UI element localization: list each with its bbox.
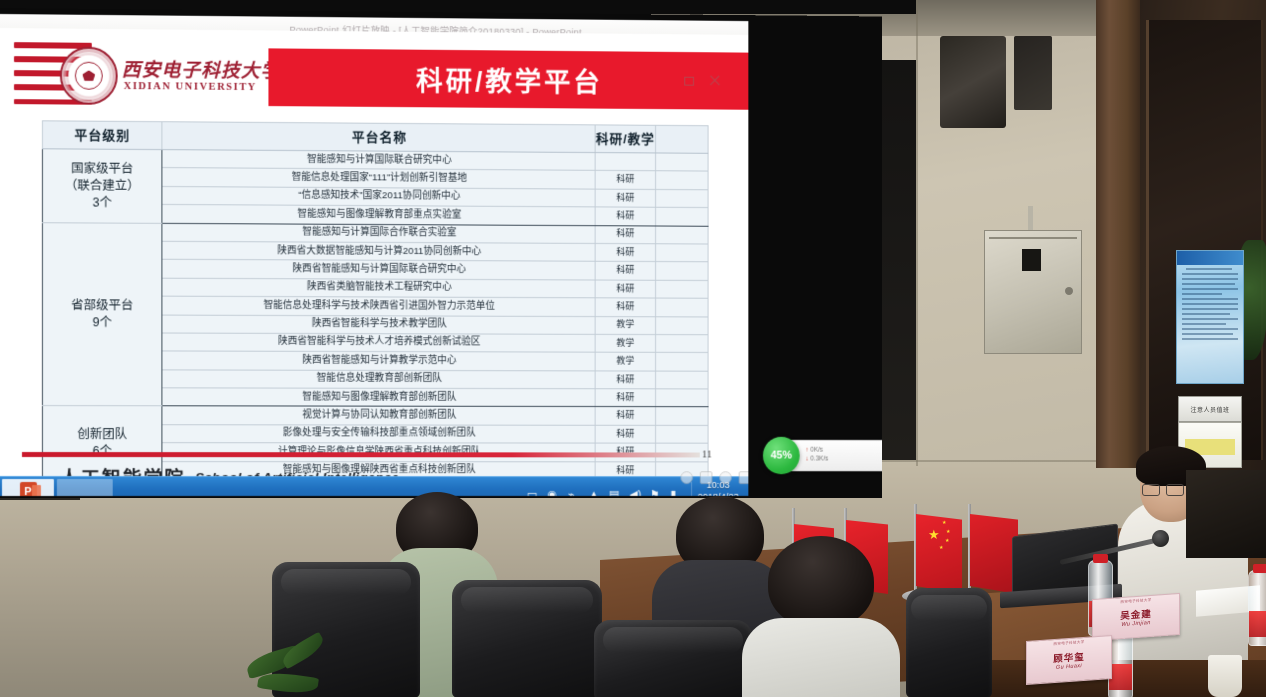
notes-icon[interactable]: ▤ <box>609 485 624 496</box>
platform-type-cell: 科研 <box>595 425 655 443</box>
group-label-line: （联合建立） <box>43 177 161 195</box>
table-spacer-cell <box>656 389 709 407</box>
powerpoint-window: PowerPoint 幻灯片放映 - [人工智能学院简介20180330] - … <box>0 14 748 496</box>
table-spacer-cell <box>656 407 709 425</box>
table-spacer-cell <box>656 207 709 225</box>
table-group-label: 省部级平台9个 <box>42 222 161 406</box>
table-header-cell: 平台名称 <box>162 122 595 153</box>
platform-name-cell: 陕西省智能科学与技术教学团队 <box>162 315 595 335</box>
next-slide-icon[interactable] <box>719 471 732 484</box>
platform-type-cell: 教学 <box>595 352 655 370</box>
platform-name-cell: 智能信息处理科学与技术陕西省引进国外智力示范单位 <box>162 296 595 316</box>
table-spacer-cell <box>656 353 709 371</box>
download-arrow-icon: ↓ <box>806 456 809 463</box>
table-spacer-cell <box>656 425 709 443</box>
platform-type-cell: 科研 <box>595 280 655 298</box>
platform-name-cell: 视觉计算与协同认知教育部创新团队 <box>162 406 595 425</box>
platform-name-cell: 智能信息处理教育部创新团队 <box>162 370 595 389</box>
platform-type-cell: 科研 <box>595 171 655 190</box>
attendee-shirt <box>742 618 900 697</box>
slide-title-banner: 科研/教学平台 <box>268 48 748 109</box>
cabinet-handle-icon <box>1065 287 1073 295</box>
conference-room-scene: 注意人员值班 PowerPoint 幻灯片放映 - [人工智能学院简介20180… <box>0 0 1266 697</box>
platform-type-cell: 科研 <box>595 298 655 316</box>
platform-name-cell: 陕西省智能感知与计算教学示范中心 <box>162 351 595 370</box>
taskbar-powerpoint-button[interactable]: P <box>2 479 54 496</box>
footer-rule <box>22 452 700 457</box>
network-icon[interactable]: ⌁ <box>568 485 583 496</box>
chair <box>594 620 752 697</box>
windows-taskbar[interactable]: P ▭ ◉ ⌁ ▲ ▤ ◀) ⚑ ▮ 10:03 2018/4/2 <box>0 476 748 496</box>
window-controls[interactable] <box>682 74 721 87</box>
table-spacer-cell <box>656 316 709 334</box>
table-spacer-cell <box>656 171 709 189</box>
platform-type-cell: 教学 <box>595 334 655 352</box>
group-label-line: 省部级平台 <box>43 297 161 314</box>
wall-seam-vertical <box>916 0 918 466</box>
platform-name-cell: 智能感知与图像理解教育部重点实验室 <box>162 205 595 226</box>
platform-type-cell: 科研 <box>595 262 655 280</box>
upload-arrow-icon: ↑ <box>806 447 809 454</box>
slide-number: 11 <box>702 449 712 461</box>
show-hidden-icons-icon[interactable]: ▲ <box>589 485 604 496</box>
wall-sign: 注意人员值班 <box>1178 396 1242 422</box>
upload-rate: 0K/s <box>810 447 823 454</box>
wall-notice-poster <box>1176 250 1244 384</box>
platform-table: 平台级别平台名称科研/教学国家级平台（联合建立）3个智能感知与计算国际联合研究中… <box>42 120 709 480</box>
table-row: 创新团队6个视觉计算与协同认知教育部创新团队科研 <box>42 406 708 425</box>
platform-type-cell: 科研 <box>595 225 655 243</box>
close-icon[interactable] <box>709 74 722 87</box>
table-spacer-cell <box>656 371 709 389</box>
university-name-cn: 西安电子科技大学 <box>122 55 281 83</box>
taskbar-buttons[interactable]: P <box>0 479 113 496</box>
network-speed-widget[interactable]: 45% ↑ 0K/s ↓ 0.3K/s ✦ <box>776 440 882 472</box>
table-header-cell <box>656 125 709 153</box>
water-bottle <box>1248 570 1266 646</box>
help-icon[interactable]: ◉ <box>547 485 562 496</box>
ceiling-speaker-left <box>940 36 1006 128</box>
platform-type-cell: 科研 <box>595 189 655 208</box>
signal-icon[interactable]: ▮ <box>670 485 685 496</box>
chair <box>906 588 992 697</box>
table-spacer-cell <box>656 298 709 316</box>
paper-cup <box>1208 655 1242 697</box>
university-logo-icon <box>60 47 118 105</box>
table-header-row: 平台级别平台名称科研/教学 <box>42 121 708 154</box>
slideshow-controls[interactable] <box>680 470 748 484</box>
table-spacer-cell <box>656 189 709 207</box>
network-rates: ↑ 0K/s ↓ 0.3K/s <box>806 447 829 464</box>
cabinet-top-line <box>989 237 1077 239</box>
placard-name-en: Wu Jinjian <box>1121 620 1150 628</box>
powerpoint-icon[interactable]: P <box>19 482 36 496</box>
ceiling-speaker-right <box>1014 36 1052 110</box>
slide-canvas: 西安电子科技大学 XIDIAN UNIVERSITY 科研/教学平台 平台级别平… <box>0 28 748 496</box>
slide-title: 科研/教学平台 <box>416 59 603 99</box>
university-name-en: XIDIAN UNIVERSITY <box>124 81 257 93</box>
wall-sign-text: 注意人员值班 <box>1190 405 1229 414</box>
taskbar-active-window-button[interactable] <box>57 479 113 496</box>
group-label-line: 9个 <box>43 314 161 331</box>
platform-type-cell: 教学 <box>595 316 655 334</box>
equipment-right <box>1186 470 1266 558</box>
table-spacer-cell <box>656 226 709 244</box>
slide-menu-icon[interactable] <box>739 471 749 484</box>
platform-type-cell: 科研 <box>595 243 655 261</box>
tray-separator <box>691 482 692 496</box>
chair <box>452 580 602 697</box>
glasses-icon <box>1142 484 1184 494</box>
platform-name-cell: 陕西省类脑智能技术工程研究中心 <box>162 278 595 298</box>
chinese-flag: ★ ★ ★ ★ ★ <box>916 514 962 594</box>
table-row: 国家级平台（联合建立）3个智能感知与计算国际联合研究中心 <box>42 149 708 172</box>
name-placard: 西安电子科技大学 吴金建 Wu Jinjian <box>1092 593 1180 641</box>
projection-screen: PowerPoint 幻灯片放映 - [人工智能学院简介20180330] - … <box>0 8 882 498</box>
university-flag <box>970 514 1018 594</box>
placard-org: 西安电子科技大学 <box>1120 598 1151 605</box>
plant-foreground <box>246 630 342 697</box>
poster-header <box>1177 251 1243 265</box>
platform-name-cell: 陕西省智能科学与技术人才培养模式创新试验区 <box>162 333 595 353</box>
volume-icon[interactable]: ◀) <box>629 485 644 496</box>
table-spacer-cell <box>656 153 709 171</box>
table-spacer-cell <box>656 280 709 298</box>
microphone-head-icon <box>1152 530 1169 547</box>
electrical-conduit <box>1028 206 1033 232</box>
placard-org: 西安电子科技大学 <box>1053 640 1084 647</box>
placard-name-en: Gu Huaxi <box>1056 663 1082 671</box>
platform-name-cell: 智能感知与图像理解教育部创新团队 <box>162 388 595 407</box>
platform-name-cell: 智能感知与计算国际合作联合实验室 <box>162 223 595 243</box>
table-group-label: 国家级平台（联合建立）3个 <box>42 149 161 223</box>
platform-type-cell: 科研 <box>595 371 655 389</box>
cpu-percent-badge[interactable]: 45% <box>763 437 800 474</box>
group-label-line: 3个 <box>43 194 161 212</box>
restore-icon[interactable] <box>682 74 695 87</box>
group-label-line: 国家级平台 <box>43 160 161 178</box>
platform-name-cell: “信息感知技术”国家2011协同创新中心 <box>162 186 595 207</box>
battery-icon[interactable]: ▭ <box>527 485 542 496</box>
platform-type-cell: 科研 <box>595 407 655 425</box>
platform-name-cell: 陕西省大数据智能感知与计算2011协同创新中心 <box>162 241 595 261</box>
electrical-cabinet <box>984 230 1082 354</box>
platform-type-cell: 科研 <box>595 389 655 407</box>
platform-type-cell: 科研 <box>595 207 655 225</box>
pen-tool-icon[interactable] <box>700 471 713 484</box>
table-header-cell: 平台级别 <box>42 121 161 150</box>
table-spacer-cell <box>656 262 709 280</box>
cabinet-window <box>1022 249 1041 271</box>
group-label-line: 创新团队 <box>43 426 161 443</box>
previous-slide-icon[interactable] <box>680 471 693 484</box>
table-spacer-cell <box>656 334 709 352</box>
wall-pillar <box>1096 0 1140 468</box>
platform-name-cell: 影像处理与安全传输科技部重点领域创新团队 <box>162 425 595 444</box>
download-rate: 0.3K/s <box>810 456 828 463</box>
table-spacer-cell <box>656 244 709 262</box>
platform-type-cell <box>595 153 655 172</box>
table-row: 省部级平台9个智能感知与计算国际合作联合实验室科研 <box>42 222 708 244</box>
attendee-head <box>768 536 874 628</box>
table-header-cell: 科研/教学 <box>595 125 655 153</box>
name-placard: 西安电子科技大学 顾华玺 Gu Huaxi <box>1026 635 1112 685</box>
flag-icon[interactable]: ⚑ <box>650 485 665 496</box>
platform-name-cell: 陕西省智能感知与计算国际联合研究中心 <box>162 260 595 280</box>
